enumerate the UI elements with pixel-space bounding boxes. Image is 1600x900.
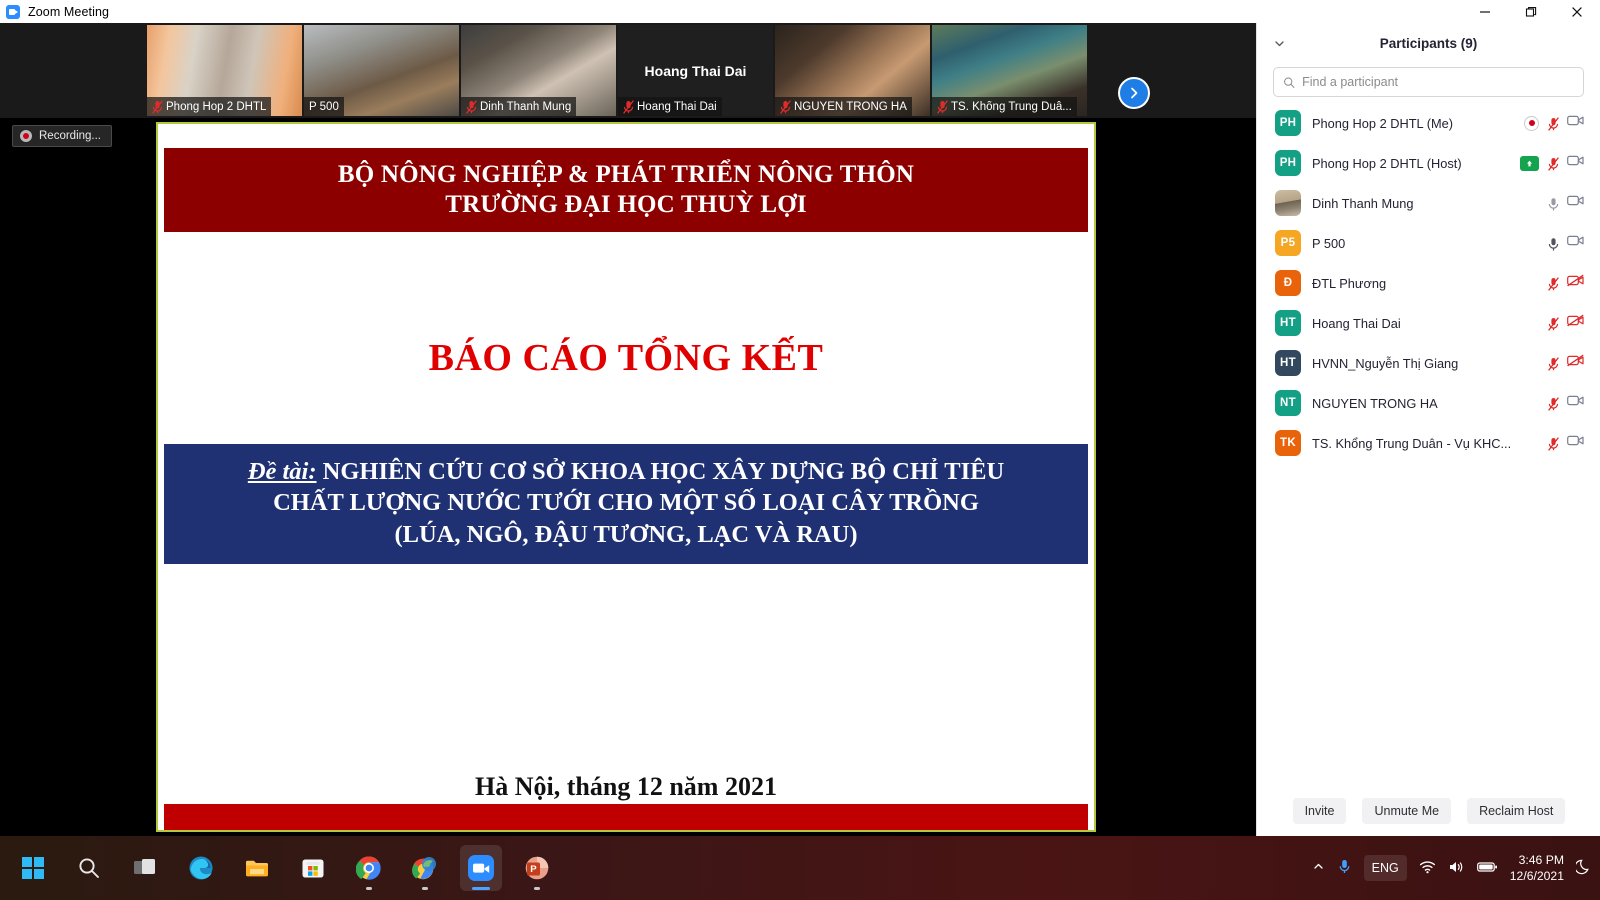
reclaim-host-button[interactable]: Reclaim Host: [1467, 798, 1565, 824]
language-indicator[interactable]: ENG: [1364, 855, 1407, 881]
search-icon: [1283, 76, 1295, 89]
participant-name: HVNN_Nguyễn Thị Giang: [1312, 356, 1537, 371]
microsoft-edge-icon[interactable]: [180, 845, 222, 891]
participant-name: TS. Khổng Trung Duân - Vụ KHC...: [1312, 436, 1537, 451]
close-button[interactable]: [1554, 0, 1600, 23]
avatar: [1275, 190, 1301, 216]
video-off-icon: [1567, 274, 1584, 292]
participant-status-icons: [1548, 354, 1584, 372]
mic-muted-icon: [1548, 157, 1558, 170]
participants-panel-footer: InviteUnmute MeReclaim Host: [1257, 786, 1600, 836]
slide-header-banner: BỘ NÔNG NGHIỆP & PHÁT TRIỂN NÔNG THÔN TR…: [164, 148, 1088, 232]
shared-screen-stage: Recording... BỘ NÔNG NGHIỆP & PHÁT TRIỂN…: [0, 118, 1256, 836]
thumbnail-name: NGUYEN TRONG HA: [794, 101, 907, 113]
avatar: Đ: [1275, 270, 1301, 296]
participant-status-icons: [1548, 234, 1584, 252]
file-explorer-icon[interactable]: [236, 845, 278, 891]
thumbnail-name: Phong Hop 2 DHTL: [166, 101, 266, 113]
clock[interactable]: 3:46 PM 12/6/2021: [1510, 852, 1564, 885]
taskbar-icons: P: [12, 836, 558, 900]
unmute-me-button[interactable]: Unmute Me: [1362, 798, 1451, 824]
slide-topic-line2: CHẤT LƯỢNG NƯỚC TƯỚI CHO MỘT SỐ LOẠI CÂY…: [174, 487, 1078, 518]
participant-name: ĐTL Phương: [1312, 276, 1537, 291]
mic-muted-icon: [1548, 397, 1558, 410]
participants-panel: Participants (9) PHPhong Hop 2 DHTL (Me)…: [1256, 23, 1600, 836]
participant-row[interactable]: Dinh Thanh Mung: [1257, 183, 1600, 223]
shared-slide-frame[interactable]: BỘ NÔNG NGHIỆP & PHÁT TRIỂN NÔNG THÔN TR…: [156, 122, 1096, 832]
thumbnail-name-bar: Hoang Thai Dai: [618, 97, 722, 116]
maximize-button[interactable]: [1508, 0, 1554, 23]
video-off-icon: [1567, 354, 1584, 372]
participant-row[interactable]: TKTS. Khổng Trung Duân - Vụ KHC...: [1257, 423, 1600, 463]
speaker-icon[interactable]: [1448, 860, 1465, 877]
tray-overflow-button[interactable]: [1312, 860, 1325, 876]
mic-muted-icon: [1548, 317, 1558, 330]
participant-status-icons: [1520, 154, 1584, 172]
google-chrome-icon[interactable]: [348, 845, 390, 891]
participant-row[interactable]: PHPhong Hop 2 DHTL (Host): [1257, 143, 1600, 183]
system-tray: ENG: [1312, 836, 1592, 900]
avatar: PH: [1275, 150, 1301, 176]
participant-row[interactable]: NTNGUYEN TRONG HA: [1257, 383, 1600, 423]
powerpoint-icon[interactable]: P: [516, 845, 558, 891]
notifications-moon-icon[interactable]: [1576, 858, 1592, 878]
search-icon[interactable]: [68, 845, 110, 891]
participant-name: Phong Hop 2 DHTL (Host): [1312, 156, 1509, 171]
avatar: NT: [1275, 390, 1301, 416]
avatar: TK: [1275, 430, 1301, 456]
avatar: PH: [1275, 110, 1301, 136]
avatar: HT: [1275, 350, 1301, 376]
mic-muted-icon: [1548, 437, 1558, 450]
thumbnail-name-bar: Phong Hop 2 DHTL: [147, 97, 271, 116]
slide-topic-line3: (LÚA, NGÔ, ĐẬU TƯƠNG, LẠC VÀ RAU): [174, 519, 1078, 550]
slide-topic-box: Đề tài: NGHIÊN CỨU CƠ SỞ KHOA HỌC XÂY DỰ…: [164, 444, 1088, 564]
thumbnail-list: Phong Hop 2 DHTLP 500Dinh Thanh MungHoan…: [147, 25, 1087, 116]
microsoft-store-icon[interactable]: [292, 845, 334, 891]
mic-on-icon: [1548, 197, 1558, 210]
mic-muted-icon: [1548, 277, 1558, 290]
avatar: P5: [1275, 230, 1301, 256]
participants-panel-header: Participants (9): [1257, 23, 1600, 63]
thumbnail-3[interactable]: Dinh Thanh Mung: [461, 25, 616, 116]
mic-muted-icon: [1548, 117, 1558, 130]
mic-muted-icon: [152, 100, 162, 113]
mic-muted-icon: [937, 100, 947, 113]
chevron-right-icon: [1127, 86, 1141, 100]
participant-name: NGUYEN TRONG HA: [1312, 396, 1537, 411]
mic-muted-icon: [1548, 357, 1558, 370]
mic-muted-icon: [466, 100, 476, 113]
window-controls: [1462, 0, 1600, 23]
battery-icon[interactable]: [1477, 861, 1498, 876]
thumbnail-name-bar: TS. Khổng Trung Duâ...: [932, 97, 1077, 116]
slide-topic-line1: Đề tài: NGHIÊN CỨU CƠ SỞ KHOA HỌC XÂY DỰ…: [174, 456, 1078, 487]
participant-status-icons: [1548, 394, 1584, 412]
thumbnail-name: Dinh Thanh Mung: [480, 101, 571, 113]
mic-muted-icon: [780, 100, 790, 113]
participants-title: Participants (9): [1380, 36, 1478, 51]
minimize-button[interactable]: [1462, 0, 1508, 23]
record-dot-icon: [20, 130, 32, 142]
wifi-icon[interactable]: [1419, 860, 1436, 877]
presentation-slide: BỘ NÔNG NGHIỆP & PHÁT TRIỂN NÔNG THÔN TR…: [158, 124, 1094, 830]
video-on-icon: [1567, 434, 1584, 452]
host-badge-icon: [1520, 156, 1539, 171]
mic-muted-icon: [623, 100, 633, 113]
thumbnail-2[interactable]: P 500: [304, 25, 459, 116]
microphone-icon[interactable]: [1337, 858, 1352, 878]
recording-badge-icon: [1524, 116, 1539, 131]
participant-name: Dinh Thanh Mung: [1312, 196, 1537, 211]
task-view-icon[interactable]: [124, 845, 166, 891]
svg-text:P: P: [530, 864, 537, 875]
google-earth-icon[interactable]: [404, 845, 446, 891]
slide-topic-label: Đề tài:: [248, 458, 317, 485]
participant-name: Phong Hop 2 DHTL (Me): [1312, 116, 1513, 131]
participant-row[interactable]: PHPhong Hop 2 DHTL (Me): [1257, 103, 1600, 143]
participant-name: P 500: [1312, 236, 1537, 251]
recording-indicator[interactable]: Recording...: [12, 125, 112, 147]
invite-button[interactable]: Invite: [1293, 798, 1347, 824]
windows-taskbar: P ENG: [0, 836, 1600, 900]
window-title: Zoom Meeting: [28, 5, 109, 19]
thumbnail-name: TS. Khổng Trung Duâ...: [951, 101, 1072, 113]
slide-topic-text1: NGHIÊN CỨU CƠ SỞ KHOA HỌC XÂY DỰNG BỘ CH…: [323, 458, 1005, 485]
participant-row[interactable]: HTHVNN_Nguyễn Thị Giang: [1257, 343, 1600, 383]
participant-row[interactable]: HTHoang Thai Dai: [1257, 303, 1600, 343]
thumbnail-name: P 500: [309, 101, 339, 113]
filmstrip-next-page-button[interactable]: [1118, 77, 1150, 109]
start-windows-icon[interactable]: [12, 845, 54, 891]
participant-row[interactable]: P5P 500: [1257, 223, 1600, 263]
video-on-icon: [1567, 194, 1584, 212]
thumbnail-name-bar: Dinh Thanh Mung: [461, 97, 576, 116]
slide-header-line1: BỘ NÔNG NGHIỆP & PHÁT TRIỂN NÔNG THÔN: [338, 160, 914, 191]
thumbnail-name-bar: P 500: [304, 97, 344, 116]
participant-row[interactable]: ĐĐTL Phương: [1257, 263, 1600, 303]
participant-status-icons: [1548, 314, 1584, 332]
participant-status-icons: [1524, 114, 1584, 132]
slide-bottom-bar: [164, 804, 1088, 830]
slide-footer-text: Hà Nội, tháng 12 năm 2021: [158, 772, 1094, 802]
zoom-meeting-window: Zoom Meeting Phong Hop 2 DHTLP 500Dinh T…: [0, 0, 1600, 900]
chevron-up-icon: [1312, 860, 1325, 873]
recording-label: Recording...: [39, 130, 101, 142]
participants-list: PHPhong Hop 2 DHTL (Me)PHPhong Hop 2 DHT…: [1257, 103, 1600, 463]
video-on-icon: [1567, 234, 1584, 252]
clock-time: 3:46 PM: [1510, 852, 1564, 868]
participant-status-icons: [1548, 274, 1584, 292]
mic-on-icon: [1548, 237, 1558, 250]
participant-status-icons: [1548, 194, 1584, 212]
video-off-icon: [1567, 314, 1584, 332]
thumbnail-name: Hoang Thai Dai: [637, 101, 717, 113]
video-on-icon: [1567, 154, 1584, 172]
thumbnail-5[interactable]: NGUYEN TRONG HA: [775, 25, 930, 116]
window-titlebar: Zoom Meeting: [0, 0, 1600, 23]
chevron-down-icon: [1273, 37, 1286, 50]
panel-collapse-button[interactable]: [1271, 35, 1287, 51]
slide-header-line2: TRƯỜNG ĐẠI HỌC THUỲ LỢI: [445, 190, 807, 221]
video-on-icon: [1567, 114, 1584, 132]
participant-search-box[interactable]: [1273, 67, 1584, 97]
slide-main-title: BÁO CÁO TỔNG KẾT: [158, 336, 1094, 380]
clock-date: 12/6/2021: [1510, 868, 1564, 884]
avatar: HT: [1275, 310, 1301, 336]
participant-search-input[interactable]: [1302, 75, 1574, 89]
zoom-video-icon: [6, 5, 20, 19]
thumbnail-name-bar: NGUYEN TRONG HA: [775, 97, 912, 116]
participant-name: Hoang Thai Dai: [1312, 316, 1537, 331]
participant-status-icons: [1548, 434, 1584, 452]
video-on-icon: [1567, 394, 1584, 412]
video-filmstrip: Phong Hop 2 DHTLP 500Dinh Thanh MungHoan…: [0, 23, 1256, 118]
thumbnail-4[interactable]: Hoang Thai DaiHoang Thai Dai: [618, 25, 773, 116]
thumbnail-6[interactable]: TS. Khổng Trung Duâ...: [932, 25, 1087, 116]
zoom-icon[interactable]: [460, 845, 502, 891]
thumbnail-1[interactable]: Phong Hop 2 DHTL: [147, 25, 302, 116]
